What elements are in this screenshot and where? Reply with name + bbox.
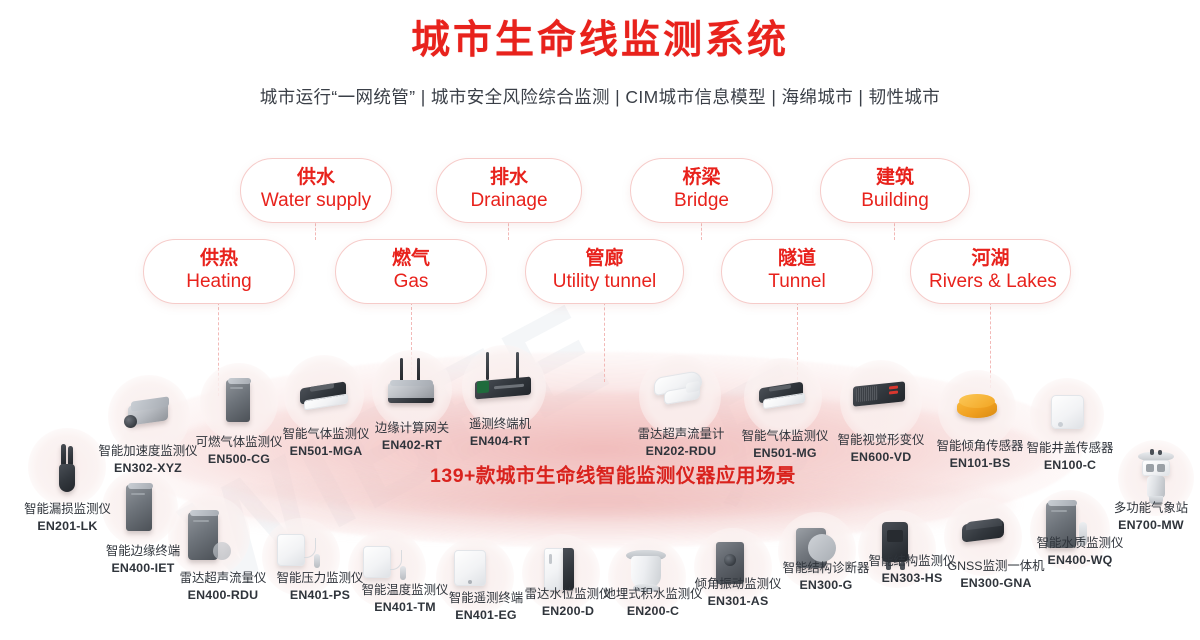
category-pill-building[interactable]: 建筑 Building <box>820 158 970 223</box>
device-label: 智能漏损监测仪 EN201-LK <box>0 501 140 534</box>
device-name: 智能漏损监测仪 <box>0 501 140 518</box>
pill-en-label: Building <box>839 190 951 212</box>
category-pill-heating[interactable]: 供热 Heating <box>143 239 295 304</box>
pill-en-label: Gas <box>354 271 468 293</box>
device-icon-gas-detector[interactable] <box>222 378 256 426</box>
pill-en-label: Water supply <box>259 190 373 212</box>
pill-en-label: Rivers & Lakes <box>929 271 1052 293</box>
device-model: EN700-MW <box>1090 517 1200 534</box>
device-name: 遥测终端机 <box>437 416 563 433</box>
pill-en-label: Heating <box>162 271 276 293</box>
connector-utility <box>604 292 605 382</box>
device-icon-radar-flowmeter[interactable] <box>652 370 710 414</box>
pill-cn-label: 建筑 <box>839 167 951 189</box>
category-pill-tunnel[interactable]: 隧道 Tunnel <box>721 239 873 304</box>
device-icon-rtu-router[interactable] <box>472 352 536 408</box>
device-label: 智能井盖传感器 EN100-C <box>1000 440 1140 473</box>
device-icon-gas-monitor-mg[interactable] <box>757 375 809 413</box>
device-icon-manhole-sensor[interactable] <box>1048 392 1088 434</box>
infographic-poster: WIBEE 万 城市生命线监测系统 城市运行“一网统管” | 城市安全风险综合监… <box>0 0 1200 640</box>
category-pill-drainage[interactable]: 排水 Drainage <box>436 158 582 223</box>
device-model: EN404-RT <box>437 433 563 450</box>
pill-cn-label: 供水 <box>259 167 373 189</box>
pill-cn-label: 供热 <box>162 248 276 270</box>
pill-cn-label: 桥梁 <box>649 167 754 189</box>
pill-en-label: Drainage <box>455 190 563 212</box>
page-title: 城市生命线监测系统 <box>0 18 1200 65</box>
pill-cn-label: 管廊 <box>544 248 665 270</box>
device-model: EN301-AS <box>668 593 808 610</box>
pill-cn-label: 排水 <box>455 167 563 189</box>
category-pill-utility-tunnel[interactable]: 管廊 Utility tunnel <box>525 239 684 304</box>
pill-en-label: Tunnel <box>740 271 854 293</box>
category-pill-rivers-lakes[interactable]: 河湖 Rivers & Lakes <box>910 239 1071 304</box>
category-pill-gas[interactable]: 燃气 Gas <box>335 239 487 304</box>
device-label: 多功能气象站 EN700-MW <box>1090 500 1200 533</box>
device-icon-edge-gateway[interactable] <box>384 358 440 410</box>
pill-cn-label: 河湖 <box>929 248 1052 270</box>
device-icon-tilt-sensor[interactable] <box>955 392 1001 424</box>
pill-en-label: Utility tunnel <box>544 271 665 293</box>
device-name: 智能水质监测仪 <box>1010 535 1150 552</box>
category-pill-water-supply[interactable]: 供水 Water supply <box>240 158 392 223</box>
device-icon-gnss-unit[interactable] <box>960 514 1010 554</box>
device-name: 智能井盖传感器 <box>1000 440 1140 457</box>
device-label: 智能水质监测仪 EN400-WQ <box>1010 535 1150 568</box>
pill-cn-label: 燃气 <box>354 248 468 270</box>
device-name: 智能边缘终端 <box>78 543 208 560</box>
device-model: EN400-WQ <box>1010 552 1150 569</box>
device-model: EN300-GNA <box>930 575 1062 592</box>
device-icon-gas-monitor[interactable] <box>298 373 352 413</box>
device-model: EN100-C <box>1000 457 1140 474</box>
header: 城市生命线监测系统 城市运行“一网统管” | 城市安全风险综合监测 | CIM城… <box>0 0 1200 109</box>
device-icon-weather-station[interactable] <box>1134 452 1178 506</box>
device-model: EN201-LK <box>0 518 140 535</box>
device-icon-vision-deformation[interactable] <box>851 378 911 414</box>
banner-headline: 139+款城市生命线智能监测仪器应用场景 <box>430 459 790 488</box>
device-name: 多功能气象站 <box>1090 500 1200 517</box>
device-label: 遥测终端机 EN404-RT <box>437 416 563 449</box>
device-icon-accelerometer[interactable] <box>124 393 176 433</box>
pill-cn-label: 隧道 <box>740 248 854 270</box>
pill-en-label: Bridge <box>649 190 754 212</box>
page-subtitle: 城市运行“一网统管” | 城市安全风险综合监测 | CIM城市信息模型 | 海绵… <box>0 84 1200 109</box>
category-pill-bridge[interactable]: 桥梁 Bridge <box>630 158 773 223</box>
